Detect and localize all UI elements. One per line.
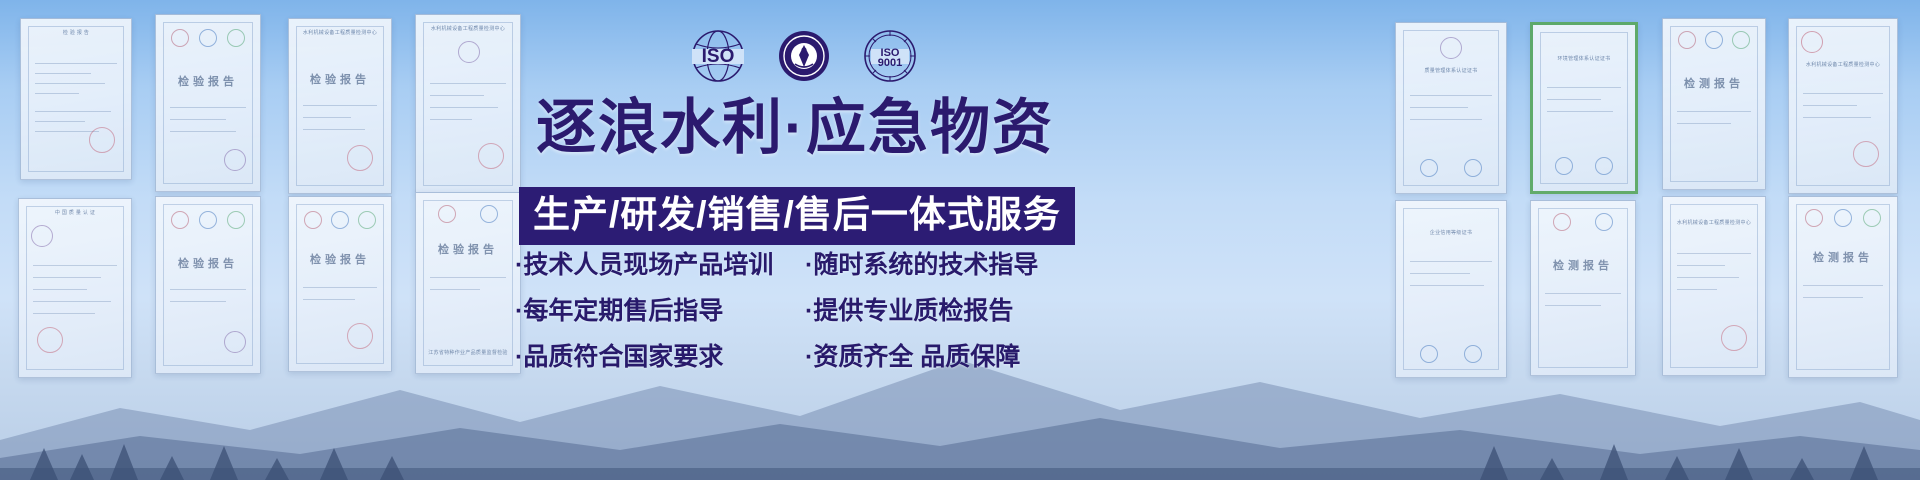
page-title: 逐浪水利·应急物资: [505, 96, 1085, 160]
red-stamp-icon: [347, 145, 373, 171]
red-stamp-icon: [1853, 141, 1879, 167]
certificate-caption: 水利机械设备工程质量检测中心: [424, 25, 511, 33]
certification-logos: [426, 205, 509, 223]
certificate-caption: 中 国 质 量 认 证: [28, 209, 122, 217]
certificate-title: 检验报告: [156, 255, 260, 271]
certificate-thumb: 检验报告: [155, 196, 261, 374]
certificate-thumb: 企业信用等级证书: [1395, 200, 1507, 378]
seal-icon: [224, 331, 246, 353]
iso-globe-badge: ISO: [690, 28, 746, 84]
red-stamp-icon: [89, 127, 115, 153]
certification-logos: [1407, 345, 1495, 363]
feature-item: ·技术人员现场产品培训: [515, 250, 805, 280]
seal-icon: [1801, 31, 1823, 53]
feature-item: ·品质符合国家要求: [515, 342, 805, 372]
seal-icon: [1440, 37, 1462, 59]
seal-icon: [31, 225, 53, 247]
certificate-thumb: 检验报告: [288, 196, 392, 372]
feature-row: ·品质符合国家要求 ·资质齐全 品质保障: [515, 342, 1085, 372]
seal-icon: [458, 41, 480, 63]
red-stamp-icon: [1721, 325, 1747, 351]
certificate-thumb: 检测报告: [1788, 196, 1898, 378]
seal-icon: [224, 149, 246, 171]
certification-badge-row: ISO: [690, 28, 918, 84]
feature-row: ·技术人员现场产品培训 ·随时系统的技术指导: [515, 250, 1085, 280]
certification-logos: [299, 211, 381, 229]
iso-9001-seal: ISO 9001: [862, 28, 918, 84]
certificate-thumb: 检测报告: [1530, 200, 1636, 376]
certificate-caption: 水利机械设备工程质量检测中心: [297, 29, 383, 37]
certificate-title: 检测报告: [1789, 249, 1897, 265]
certificate-wall-right: 质量管理体系认证证书 环境管理体系认证证书 检测报告: [1380, 0, 1920, 480]
certificate-thumb: 水利机械设备工程质量检测中心: [1788, 18, 1898, 194]
cqc-circular-seal: [776, 28, 832, 84]
certificate-title: 检验报告: [289, 71, 391, 87]
svg-text:ISO: ISO: [702, 46, 735, 67]
certification-logos: [1407, 159, 1495, 177]
certificate-caption: 检 验 报 告: [30, 29, 122, 37]
feature-item: ·资质齐全 品质保障: [805, 342, 1085, 372]
certification-logos: [166, 211, 249, 229]
certificate-title: 检验报告: [289, 251, 391, 267]
certificate-title: 检测报告: [1531, 257, 1635, 273]
banner-content: ISO: [505, 0, 1085, 480]
certificate-caption: 质量管理体系认证证书: [1405, 67, 1497, 75]
feature-item: ·提供专业质检报告: [805, 296, 1085, 326]
feature-item: ·每年定期售后指导: [515, 296, 805, 326]
subtitle-bar: 生产/研发/销售/售后一体式服务: [519, 187, 1075, 245]
red-stamp-icon: [347, 323, 373, 349]
red-stamp-icon: [478, 143, 504, 169]
certificate-caption: 企业信用等级证书: [1405, 229, 1497, 237]
promo-banner: 检 验 报 告 检验报告 水利机械设备工程质量检测中心 检验报告: [0, 0, 1920, 480]
certificate-caption: 环境管理体系认证证书: [1541, 55, 1627, 63]
certificate-thumb: 环境管理体系认证证书: [1530, 22, 1638, 194]
certificate-caption: 江苏省特种作业产品质量监督检验: [424, 349, 511, 357]
certificate-thumb: 水利机械设备工程质量检测中心 检验报告: [288, 18, 392, 194]
certification-logos: [166, 29, 249, 47]
feature-row: ·每年定期售后指导 ·提供专业质检报告: [515, 296, 1085, 326]
feature-list: ·技术人员现场产品培训 ·随时系统的技术指导 ·每年定期售后指导 ·提供专业质检…: [515, 250, 1085, 388]
certification-logos: [1541, 213, 1624, 231]
certificate-caption: 水利机械设备工程质量检测中心: [1798, 61, 1889, 69]
certificate-thumb: 水利机械设备工程质量检测中心: [1662, 196, 1766, 376]
feature-item: ·随时系统的技术指导: [805, 250, 1085, 280]
certificate-thumb: 检 验 报 告: [20, 18, 132, 180]
svg-text:9001: 9001: [878, 57, 902, 69]
certification-logos: [1543, 157, 1625, 175]
certificate-thumb: 中 国 质 量 认 证: [18, 198, 132, 378]
certification-logos: [1800, 209, 1886, 227]
certificate-thumb: 检验报告: [155, 14, 261, 192]
certificate-wall-left: 检 验 报 告 检验报告 水利机械设备工程质量检测中心 检验报告: [0, 0, 540, 480]
certificate-thumb: 检测报告: [1662, 18, 1766, 190]
certification-logos: [1673, 31, 1755, 49]
certificate-caption: 水利机械设备工程质量检测中心: [1671, 219, 1757, 227]
red-stamp-icon: [37, 327, 63, 353]
certificate-title: 检验报告: [156, 73, 260, 89]
certificate-thumb: 质量管理体系认证证书: [1395, 22, 1507, 194]
certificate-title: 检测报告: [1663, 75, 1765, 91]
